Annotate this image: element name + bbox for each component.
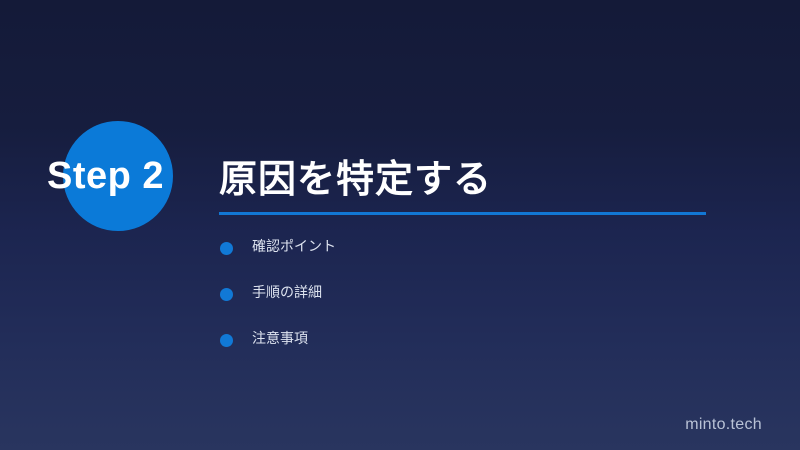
bullet-dot-icon bbox=[220, 288, 233, 301]
page-title: 原因を特定する bbox=[219, 148, 492, 203]
list-item-label: 手順の詳細 bbox=[252, 282, 322, 302]
list-item: 注意事項 bbox=[219, 328, 699, 374]
list-item-label: 注意事項 bbox=[252, 328, 308, 348]
list-item: 確認ポイント bbox=[219, 236, 699, 282]
bullet-list: 確認ポイント 手順の詳細 注意事項 bbox=[219, 236, 699, 374]
title-divider bbox=[219, 212, 706, 215]
bullet-dot-icon bbox=[220, 242, 233, 255]
list-item-label: 確認ポイント bbox=[252, 236, 336, 256]
bullet-dot-icon bbox=[220, 334, 233, 347]
list-item: 手順の詳細 bbox=[219, 282, 699, 328]
footer-brand: minto.tech bbox=[685, 416, 762, 434]
slide-canvas: Step 2 原因を特定する 確認ポイント 手順の詳細 注意事項 minto.t… bbox=[0, 0, 800, 450]
